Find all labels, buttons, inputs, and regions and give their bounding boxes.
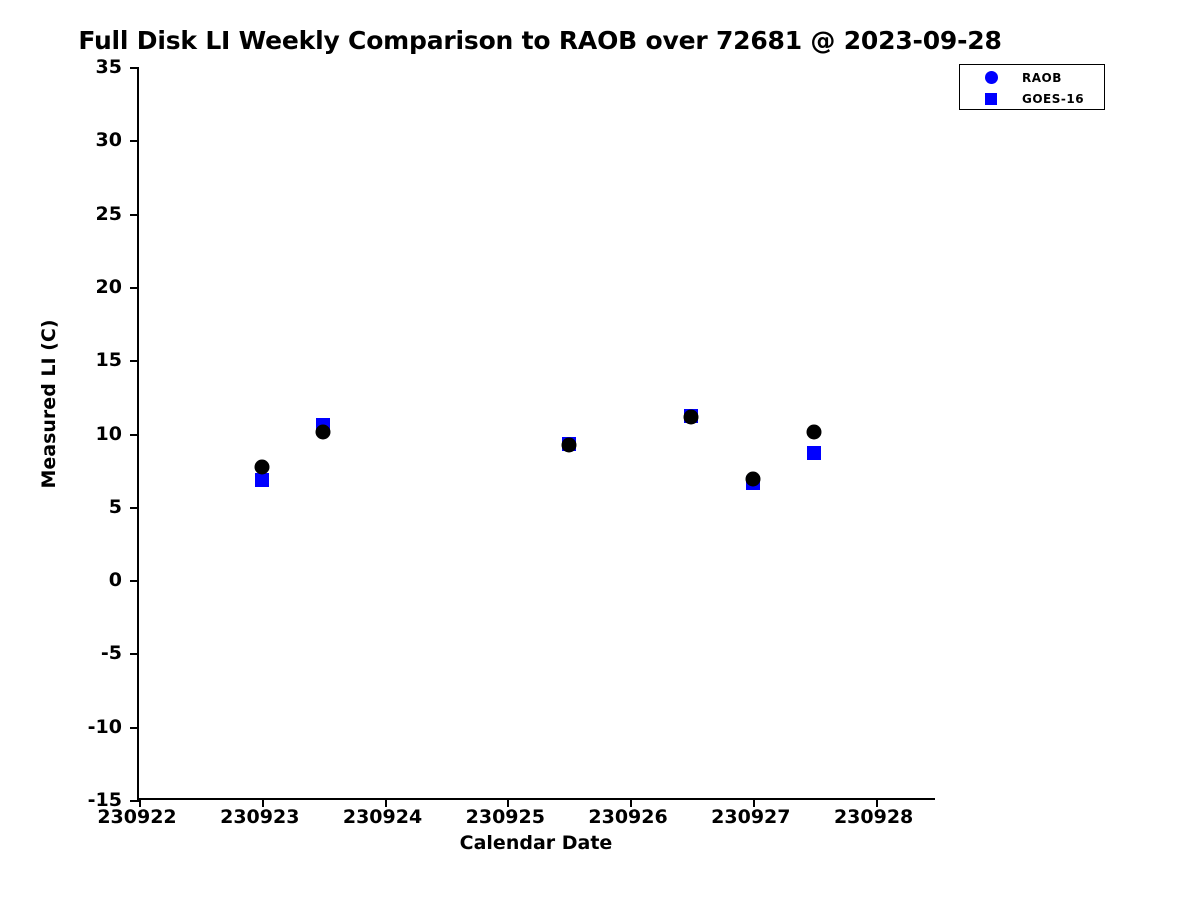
y-axis-tick-label: 10 xyxy=(96,423,122,445)
chart-legend: RAOBGOES-16 xyxy=(959,64,1105,110)
y-axis-tick xyxy=(130,140,139,142)
legend-item: RAOB xyxy=(960,67,1104,88)
y-axis-tick-label: 5 xyxy=(109,496,122,518)
data-point-goes-16 xyxy=(807,446,821,460)
y-axis-tick xyxy=(130,434,139,436)
y-axis-tick-label: -10 xyxy=(88,716,122,738)
legend-marker-box xyxy=(960,71,1022,84)
y-axis-tick-label: 25 xyxy=(96,203,122,225)
x-axis-title: Calendar Date xyxy=(137,832,935,854)
legend-square-icon xyxy=(985,93,997,105)
y-axis-tick xyxy=(130,580,139,582)
y-axis-tick xyxy=(130,507,139,509)
x-axis-tick-label: 230927 xyxy=(711,806,790,828)
plot-area xyxy=(137,67,935,800)
legend-circle-icon xyxy=(985,71,998,84)
y-axis-tick-label: 0 xyxy=(109,569,122,591)
x-axis-tick-labels: 2309222309232309242309252309262309272309… xyxy=(137,806,935,834)
y-axis-tick-labels: 35302520151050-5-10-15 xyxy=(52,67,122,800)
y-axis-tick xyxy=(130,214,139,216)
y-axis-tick xyxy=(130,360,139,362)
x-axis-tick-label: 230924 xyxy=(343,806,422,828)
x-axis-tick-label: 230928 xyxy=(834,806,913,828)
y-axis-title: Measured LI (C) xyxy=(38,314,60,494)
y-axis-tick-label: 30 xyxy=(96,129,122,151)
legend-item: GOES-16 xyxy=(960,88,1104,109)
y-axis-tick-label: 20 xyxy=(96,276,122,298)
legend-label: GOES-16 xyxy=(1022,92,1084,106)
data-point-raob xyxy=(684,410,699,425)
data-point-raob xyxy=(561,438,576,453)
x-axis-tick-label: 230925 xyxy=(466,806,545,828)
y-axis-tick-label: 15 xyxy=(96,349,122,371)
data-point-raob xyxy=(807,425,822,440)
data-point-goes-16 xyxy=(255,473,269,487)
y-axis-tick-label: 35 xyxy=(96,56,122,78)
y-axis-tick xyxy=(130,800,139,802)
x-axis-tick-label: 230926 xyxy=(588,806,667,828)
legend-marker-box xyxy=(960,93,1022,105)
y-axis-tick xyxy=(130,653,139,655)
chart-figure: Full Disk LI Weekly Comparison to RAOB o… xyxy=(0,0,1200,900)
data-point-raob xyxy=(316,425,331,440)
y-axis-tick xyxy=(130,287,139,289)
legend-label: RAOB xyxy=(1022,71,1062,85)
y-axis-tick xyxy=(130,727,139,729)
page-title: Full Disk LI Weekly Comparison to RAOB o… xyxy=(0,26,1080,55)
data-point-raob xyxy=(254,460,269,475)
data-point-raob xyxy=(745,471,760,486)
y-axis-tick-label: -5 xyxy=(101,642,122,664)
x-axis-tick-label: 230922 xyxy=(97,806,176,828)
y-axis-tick xyxy=(130,67,139,69)
x-axis-tick-label: 230923 xyxy=(220,806,299,828)
